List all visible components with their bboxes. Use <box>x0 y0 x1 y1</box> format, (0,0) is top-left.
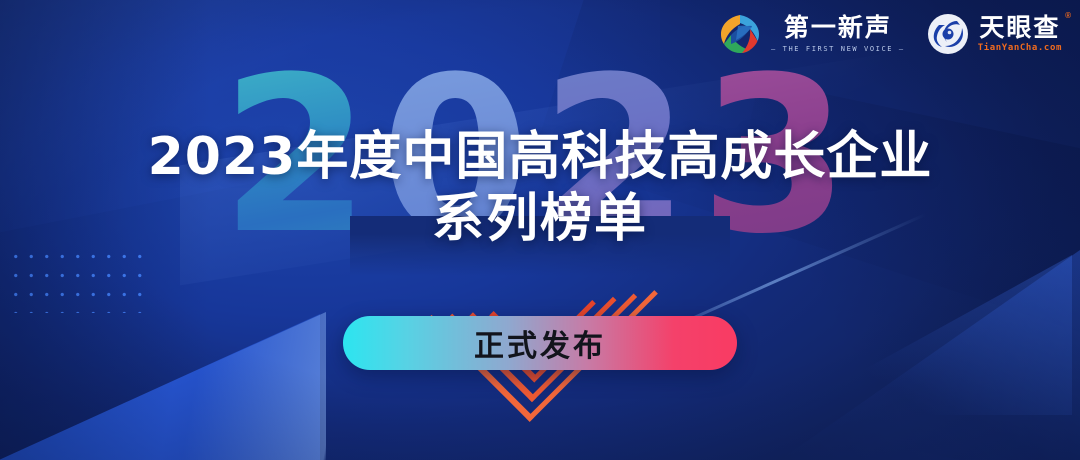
tianyancha-logo-text: 天眼查 ® TianYanCha.com <box>978 15 1062 53</box>
diyixinsheng-name: 第一新声 <box>784 15 892 41</box>
tianyancha-trademark: ® <box>1065 11 1071 20</box>
title-line-2: 系列榜单 <box>0 188 1080 250</box>
tianyancha-logo-icon <box>927 13 969 55</box>
diyixinsheng-logo-icon <box>718 12 762 56</box>
diyixinsheng-logo-text: 第一新声 — THE FIRST NEW VOICE — <box>771 15 905 52</box>
release-status-label: 正式发布 <box>474 321 606 365</box>
title-line-1: 2023年度中国高科技高成长企业 <box>0 126 1080 188</box>
tianyancha-name: 天眼查 <box>979 15 1060 41</box>
logo-tianyancha[interactable]: 天眼查 ® TianYanCha.com <box>927 13 1062 55</box>
tianyancha-tagline: TianYanCha.com <box>978 43 1062 53</box>
logo-group: 第一新声 — THE FIRST NEW VOICE — 天眼查 ® TianY… <box>718 12 1062 56</box>
release-status-pill[interactable]: 正式发布 <box>343 316 737 370</box>
logo-diyixinsheng[interactable]: 第一新声 — THE FIRST NEW VOICE — <box>718 12 905 56</box>
diyixinsheng-tagline: — THE FIRST NEW VOICE — <box>771 45 905 53</box>
promo-banner: 2023 2023年度中国高科技高成长企业 系列榜单 正式发布 <box>0 0 1080 460</box>
page-title: 2023年度中国高科技高成长企业 系列榜单 <box>0 126 1080 250</box>
